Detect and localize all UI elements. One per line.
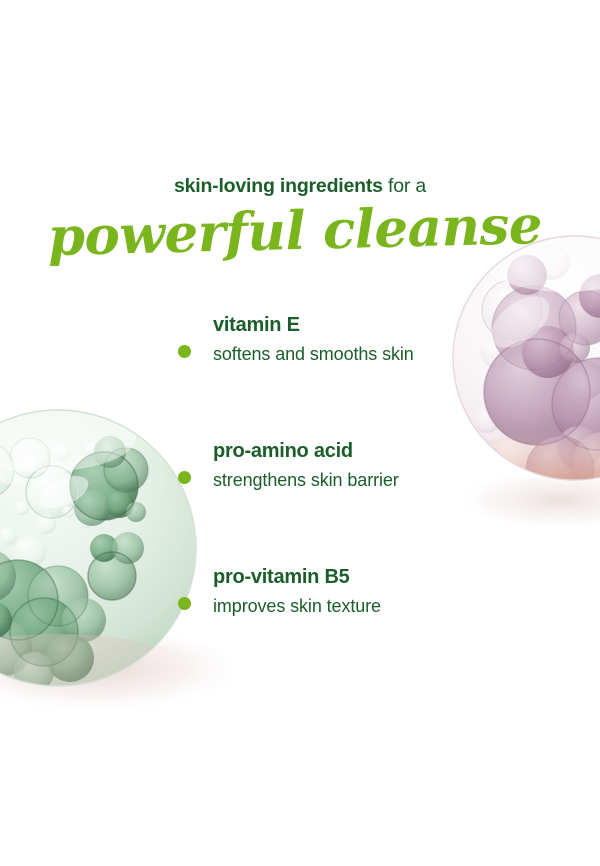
- ingredient-name: pro-vitamin B5: [213, 565, 508, 589]
- ingredient-description: strengthens skin barrier: [213, 470, 508, 492]
- headline-strong: skin-loving ingredients: [174, 175, 383, 197]
- bullet-dot-icon: [178, 345, 191, 358]
- bullet-dot-icon: [178, 471, 191, 484]
- ingredient-text: vitamin E softens and smooths skin: [213, 313, 508, 366]
- poster-canvas: skin-loving ingredients for a powerful c…: [0, 0, 600, 866]
- poster-content: skin-loving ingredients for a powerful c…: [0, 0, 600, 866]
- headline-light: for a: [383, 175, 426, 197]
- ingredient-name: vitamin E: [213, 313, 508, 337]
- ingredient-description: softens and smooths skin: [213, 344, 508, 366]
- ingredient-text: pro-amino acid strengthens skin barrier: [213, 439, 508, 492]
- ingredient-description: improves skin texture: [213, 596, 508, 618]
- list-item: pro-amino acid strengthens skin barrier: [178, 439, 508, 565]
- ingredient-text: pro-vitamin B5 improves skin texture: [213, 565, 508, 618]
- ingredient-name: pro-amino acid: [213, 439, 508, 463]
- ingredient-list: vitamin E softens and smooths skin pro-a…: [178, 313, 508, 565]
- bullet-dot-icon: [178, 597, 191, 610]
- list-item: vitamin E softens and smooths skin: [178, 313, 508, 439]
- script-headline: powerful cleanse: [0, 191, 596, 272]
